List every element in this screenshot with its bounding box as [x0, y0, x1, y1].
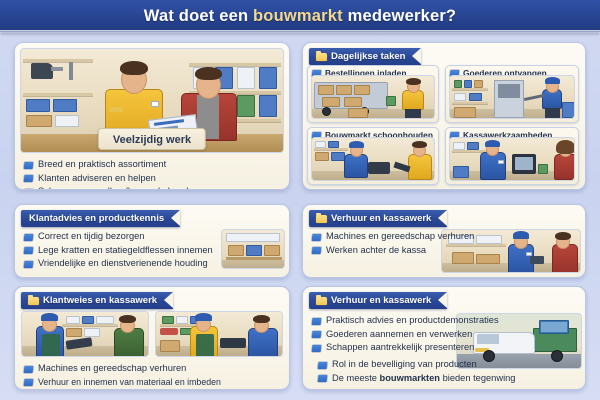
bullet-item: Vriendelijke en dienstverienende houding	[24, 258, 213, 269]
bullet-item: Schappen aantrekkelijk presenteren	[312, 342, 499, 353]
bullet-label: Werken achter de kassa	[326, 245, 426, 256]
bullet-label-pre: De meeste	[332, 373, 380, 383]
bullet-label: Machines en gereedschap verhuren	[38, 363, 186, 374]
bullet-item: Goederen aannemen en verwerken	[312, 329, 499, 340]
bullet-label: Rol in de bevelliging van producten	[332, 359, 477, 370]
photo-store-cleaning	[311, 137, 435, 181]
photo-crates-stack	[221, 229, 285, 269]
bullet-square-icon	[312, 234, 322, 241]
subcard-bouwmarkt-schoonhouden[interactable]: Bouwmarkt schoonhouden	[307, 127, 439, 185]
page-title-bar: Wat doet een bouwmarkt medewerker?	[0, 0, 600, 32]
bullet-list-verhuur-onder-top: Praktisch advies en productdemonstraties…	[305, 311, 505, 355]
bullet-square-icon	[318, 362, 328, 369]
bullet-square-icon	[312, 345, 322, 352]
ribbon-klantadvies: Klantadvies en productkennis	[21, 210, 180, 227]
bullet-square-icon	[24, 261, 34, 268]
photo-receiving-goods	[449, 75, 575, 119]
bullet-label-post: bieden tegenwing	[440, 373, 515, 383]
bullet-item: Praktisch advies en productdemonstraties	[312, 315, 499, 326]
bullet-label: Goederen aannemen en verwerken	[326, 329, 472, 340]
card-verhuur-kassawerk-onder[interactable]: Verhuur en kassawerk Praktisch advies en…	[302, 286, 586, 390]
bullet-label-bold: bouwmarkten	[380, 373, 440, 383]
bullet-label: Schappen aantrekkelijk presenteren	[326, 342, 474, 353]
folder-icon	[316, 297, 327, 305]
bullet-label: Verhuur en innemen van materiaal en imbe…	[38, 377, 221, 388]
bullet-item: Lege kratten en statiegeldflessen inneme…	[24, 245, 213, 256]
bullet-label: Machines en gereedschap verhuren	[326, 231, 474, 242]
ribbon-verhuur-onder: Verhuur en kassawerk	[309, 292, 447, 309]
ribbon-label: Verhuur en kassawerk	[331, 295, 431, 306]
bullet-square-icon	[24, 175, 34, 182]
folder-icon	[316, 215, 327, 223]
bullet-square-icon	[318, 375, 328, 382]
bullet-square-icon	[24, 234, 34, 241]
bullet-label: Schappen aanvullen & op orde houden	[38, 186, 199, 190]
ribbon-verhuur-midden: Verhuur en kassawerk	[309, 210, 447, 227]
ribbon-label: Dagelijkse taken	[331, 51, 405, 62]
subcard-kassawerkzaamheden[interactable]: Kassawerkzaamheden	[445, 127, 579, 185]
bullet-item: Machines en gereedschap verhuren	[24, 363, 281, 374]
bullet-item: Verhuur en innemen van materiaal en imbe…	[24, 377, 281, 388]
bullet-item: Schappen aanvullen & op orde houden	[24, 186, 281, 190]
ribbon-label: Klantadvies en productkennis	[29, 213, 164, 224]
bullet-item: Machines en gereedschap verhuren	[312, 231, 474, 242]
photo-tool-handover-right	[155, 311, 283, 357]
bullet-item: Correct en tijdig bezorgen	[24, 231, 213, 242]
bullet-item: Breed en praktisch assortiment	[24, 159, 281, 170]
photo-employee-advising-customer: Veelzijdig werk	[20, 48, 284, 153]
ribbon-dagelijkse-taken: Dagelijkse taken	[309, 48, 421, 65]
caption-text: Veelzijdig werk	[113, 134, 191, 146]
bullet-square-icon	[24, 247, 34, 254]
bullet-square-icon	[312, 247, 322, 254]
bullet-label: De meeste bouwmarkten bieden tegenwing	[332, 373, 515, 384]
bullet-list-veelzijdig: Breed en praktisch assortiment Klanten a…	[17, 155, 287, 190]
bullet-label: Correct en tijdig bezorgen	[38, 231, 144, 242]
page-title: Wat doet een bouwmarkt medewerker?	[144, 7, 456, 26]
card-veelzijdig-werk[interactable]: Veelzijdig werk Breed en praktisch assor…	[14, 42, 290, 190]
title-bar-sheen	[0, 30, 600, 34]
bullet-label: Breed en praktisch assortiment	[38, 159, 166, 170]
ribbon-label: Klantweies en kassawerk	[43, 295, 157, 306]
bullet-item: De meeste bouwmarkten bieden tegenwing	[318, 373, 515, 384]
card-verhuur-kassawerk-midden[interactable]: Verhuur en kassawerk Machines en gereeds…	[302, 204, 586, 278]
caption-veelzijdig-werk: Veelzijdig werk	[98, 128, 206, 150]
bullet-label: Vriendelijke en dienstverienende houding	[38, 258, 208, 269]
bullet-item: Rol in de bevelliging van producten	[318, 359, 515, 370]
bullet-square-icon	[24, 162, 34, 169]
photo-checkout-counter	[449, 137, 575, 181]
bullet-square-icon	[24, 379, 34, 386]
bullet-label: Klanten adviseren en helpen	[38, 173, 156, 184]
bullet-item: Klanten adviseren en helpen	[24, 173, 281, 184]
card-klantadvies-productkennis[interactable]: Klantadvies en productkennis Correct en …	[14, 204, 290, 278]
bullet-label: Lege kratten en statiegeldflessen inneme…	[38, 245, 213, 256]
page-title-accent: bouwmarkt	[253, 7, 343, 25]
bullet-list-verhuur-midden: Machines en gereedschap verhuren Werken …	[305, 227, 480, 258]
bullet-item: Werken achter de kassa	[312, 245, 474, 256]
page-title-part1: Wat doet een	[144, 7, 253, 25]
photo-loading-truck	[311, 75, 435, 119]
photo-tool-handover-left	[21, 311, 149, 357]
bullet-square-icon	[312, 318, 322, 325]
folder-icon	[316, 53, 327, 61]
ribbon-klantweies: Klantweies en kassawerk	[21, 292, 173, 309]
bullet-list-klantweies: Machines en gereedschap verhuren Verhuur…	[17, 359, 287, 390]
bullet-square-icon	[24, 366, 34, 373]
page-title-part2: medewerker?	[343, 7, 456, 25]
bullet-label: Praktisch advies en productdemonstraties	[326, 315, 499, 326]
bullet-list-verhuur-onder-bottom: Rol in de bevelliging van producten De m…	[311, 355, 521, 386]
card-klantweies-kassawerk[interactable]: Klantweies en kassawerk	[14, 286, 290, 390]
bullet-square-icon	[24, 189, 34, 191]
bullet-list-klantadvies: Correct en tijdig bezorgen Lege kratten …	[17, 227, 219, 271]
subcard-goederen-ontvangen[interactable]: Goederen ontvangen	[445, 65, 579, 123]
card-dagelijkse-taken[interactable]: Dagelijkse taken Bestellingen inladen	[302, 42, 586, 190]
subcard-bestellingen-inladen[interactable]: Bestellingen inladen	[307, 65, 439, 123]
bullet-square-icon	[312, 331, 322, 338]
folder-icon	[28, 297, 39, 305]
ribbon-label: Verhuur en kassawerk	[331, 213, 431, 224]
